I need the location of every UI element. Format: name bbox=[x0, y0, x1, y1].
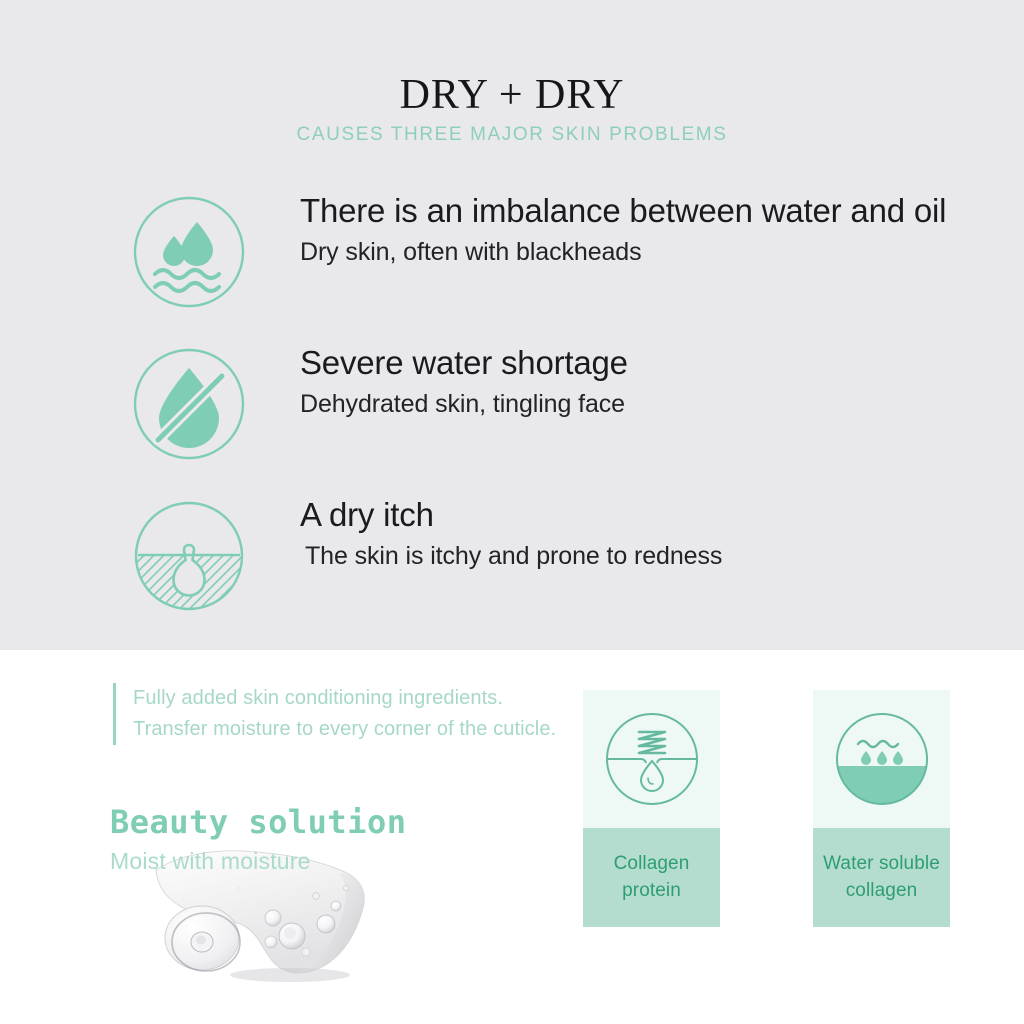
collagen-coil-droplet-icon bbox=[601, 708, 703, 810]
problem-item-3: A dry itch The skin is itchy and prone t… bbox=[0, 494, 1024, 646]
problem-text-3: A dry itch The skin is itchy and prone t… bbox=[300, 494, 1015, 573]
dry-pore-follicle-icon bbox=[131, 498, 247, 614]
claims-block: Fully added skin conditioning ingredient… bbox=[113, 683, 556, 745]
card-label-area: Water soluble collagen bbox=[813, 828, 950, 927]
ingredient-label-line1: Collagen bbox=[614, 851, 690, 877]
claim-line-2: Transfer moisture to every corner of the… bbox=[133, 714, 556, 745]
problem-text-1: There is an imbalance between water and … bbox=[300, 190, 1015, 269]
problem-headline: A dry itch bbox=[300, 494, 1015, 536]
page-subtitle: CAUSES THREE MAJOR SKIN PROBLEMS bbox=[0, 124, 1024, 147]
infographic-page: DRY + DRY CAUSES THREE MAJOR SKIN PROBLE… bbox=[0, 0, 1024, 1024]
ingredient-label-line1: Water soluble bbox=[823, 851, 940, 877]
page-title: DRY + DRY bbox=[0, 72, 1024, 118]
ingredient-label: Collagen protein bbox=[614, 851, 690, 903]
problem-headline: There is an imbalance between water and … bbox=[300, 190, 1015, 232]
problem-detail: The skin is itchy and prone to redness bbox=[305, 540, 1015, 573]
problem-detail: Dry skin, often with blackheads bbox=[300, 236, 1015, 269]
brand-block: Beauty solution Moist with moisture bbox=[110, 805, 406, 876]
brand-name: Beauty solution bbox=[110, 805, 406, 840]
card-icon-area bbox=[813, 690, 950, 828]
ingredient-label: Water soluble collagen bbox=[823, 851, 940, 903]
problem-detail: Dehydrated skin, tingling face bbox=[300, 388, 1015, 421]
ingredient-card-collagen-protein[interactable]: Collagen protein bbox=[583, 690, 720, 927]
solution-section: Fully added skin conditioning ingredient… bbox=[0, 650, 1024, 1024]
brand-tagline: Moist with moisture bbox=[110, 848, 406, 876]
no-water-droplet-icon bbox=[131, 346, 247, 462]
problem-list: There is an imbalance between water and … bbox=[0, 190, 1024, 646]
water-waves-droplets-icon bbox=[831, 708, 933, 810]
problem-item-1: There is an imbalance between water and … bbox=[0, 190, 1024, 342]
ingredient-label-line2: protein bbox=[614, 878, 690, 904]
problems-section: DRY + DRY CAUSES THREE MAJOR SKIN PROBLE… bbox=[0, 0, 1024, 650]
ingredient-label-line2: collagen bbox=[823, 878, 940, 904]
card-label-area: Collagen protein bbox=[583, 828, 720, 927]
water-oil-droplets-icon bbox=[131, 194, 247, 310]
ingredient-card-water-soluble-collagen[interactable]: Water soluble collagen bbox=[813, 690, 950, 927]
problem-text-2: Severe water shortage Dehydrated skin, t… bbox=[300, 342, 1015, 421]
claim-line-1: Fully added skin conditioning ingredient… bbox=[133, 683, 556, 714]
card-icon-area bbox=[583, 690, 720, 828]
problem-headline: Severe water shortage bbox=[300, 342, 1015, 384]
problem-item-2: Severe water shortage Dehydrated skin, t… bbox=[0, 342, 1024, 494]
